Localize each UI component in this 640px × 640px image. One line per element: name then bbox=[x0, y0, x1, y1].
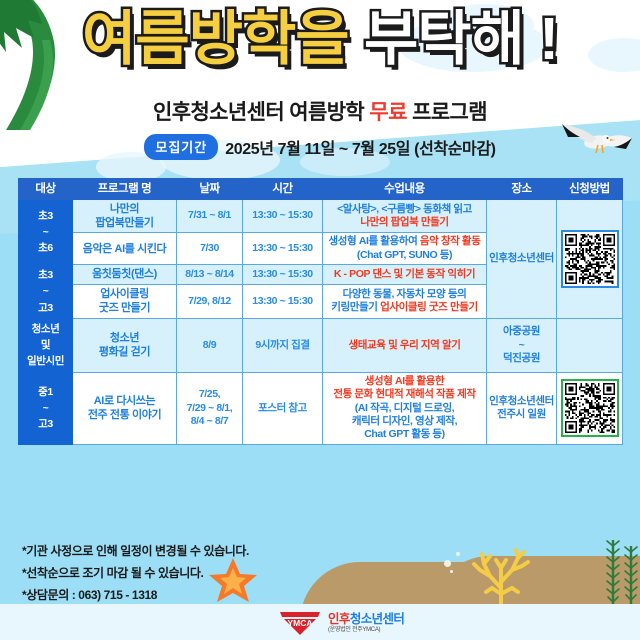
content-line-highlight: K - POP 댄스 및 기본 동작 익히기 bbox=[334, 268, 475, 280]
cell-program: 청소년평화길 걷기 bbox=[73, 318, 177, 372]
qr-code-green[interactable] bbox=[561, 379, 619, 437]
subtitle: 인후청소년센터 여름방학 무료 프로그램 bbox=[0, 96, 640, 126]
headline-exclamation: ! bbox=[539, 6, 558, 72]
subtitle-before: 인후청소년센터 여름방학 bbox=[153, 101, 364, 124]
logo-inhu: 인후 bbox=[328, 612, 350, 626]
cell-program: 음악은 AI를 시킨다 bbox=[73, 233, 177, 265]
content-line: (AI 작곡, 디지털 드로잉, bbox=[355, 402, 454, 414]
content-line: Chat GPT 활동 등) bbox=[364, 428, 445, 440]
cell-target: 초3~고3 bbox=[19, 265, 73, 319]
page-title: 여름방학을 부탁해 ! bbox=[0, 8, 640, 72]
content-highlight: 업사이클링 굿즈 만들기 bbox=[380, 301, 478, 313]
subtitle-after: 프로그램 bbox=[412, 101, 487, 124]
cell-time: 13:30 ~ 15:30 bbox=[243, 284, 323, 318]
cell-date: 8/13 ~ 8/14 bbox=[177, 265, 243, 285]
cell-place: 아중공원~덕진공원 bbox=[487, 318, 557, 372]
cell-apply-empty bbox=[557, 318, 623, 372]
cell-target: 초3~초6 bbox=[19, 200, 73, 265]
logo-center: 청소년센터 bbox=[350, 612, 405, 626]
cell-date: 7/30 bbox=[177, 233, 243, 265]
col-date: 날짜 bbox=[177, 179, 243, 200]
cell-date: 7/25,7/29 ~ 8/1,8/4 ~ 8/7 bbox=[177, 372, 243, 444]
cell-target: 청소년및일반시민 bbox=[19, 318, 73, 372]
bubble-icon bbox=[456, 552, 460, 556]
period-text: 2025년 7월 11일 ~ 7월 25일 (선착순마감) bbox=[225, 141, 495, 158]
bubble-icon bbox=[444, 560, 451, 567]
cell-content: 생성형 AI를 활용한 전통 문화 현대적 재해석 작품 제작 (AI 작곡, … bbox=[323, 372, 487, 444]
ymca-text: YMCA bbox=[287, 618, 312, 628]
cell-program: 움칫둠칫(댄스) bbox=[73, 265, 177, 285]
program-table-wrap: 대상 프로그램 명 날짜 시간 수업내용 장소 신청방법 초3~초6 나만의팝업… bbox=[18, 178, 622, 445]
content-line: 생성형 AI를 활용하여 음악 창작 활동 bbox=[329, 235, 481, 247]
col-program: 프로그램 명 bbox=[73, 179, 177, 200]
cell-program: 나만의팝업북만들기 bbox=[73, 200, 177, 233]
content-line-highlight: 생성형 AI를 활용한 bbox=[365, 375, 445, 387]
cell-content: <알사탕>, <구름빵> 동화책 읽고 나만의 팝업북 만들기 bbox=[323, 200, 487, 233]
cell-content: K - POP 댄스 및 기본 동작 익히기 bbox=[323, 265, 487, 285]
cell-time: 포스터 참고 bbox=[243, 372, 323, 444]
col-place: 장소 bbox=[487, 179, 557, 200]
table-row: 청소년및일반시민 청소년평화길 걷기 8/9 9시까지 집결 생태교육 및 우리… bbox=[19, 318, 623, 372]
cell-apply-qr[interactable] bbox=[557, 200, 623, 319]
content-highlight: 음악 창작 활동 bbox=[420, 235, 481, 247]
content-line: <알사탕>, <구름빵> 동화책 읽고 bbox=[337, 203, 472, 215]
table-row: 초3~초6 나만의팝업북만들기 7/31 ~ 8/1 13:30 ~ 15:30… bbox=[19, 200, 623, 233]
logo-sub-line: (운영법인 전주YMCA) bbox=[328, 627, 404, 633]
content-line: 캐릭터 디자인, 영상 제작, bbox=[352, 415, 457, 427]
qr-code-blue[interactable] bbox=[561, 230, 619, 288]
logo-main-line: 인후청소년센터 bbox=[328, 613, 404, 626]
logo-text-block: 인후청소년센터 (운영법인 전주YMCA) bbox=[328, 613, 404, 634]
headline-part1: 여름방학을 bbox=[82, 6, 348, 72]
col-content: 수업내용 bbox=[323, 179, 487, 200]
cell-content: 생태교육 및 우리 지역 알기 bbox=[323, 318, 487, 372]
content-line: 키링만들기 업사이클링 굿즈 만들기 bbox=[331, 301, 477, 313]
cell-program: AI로 다시쓰는전주 전통 이야기 bbox=[73, 372, 177, 444]
content-line-highlight: 생태교육 및 우리 지역 알기 bbox=[349, 339, 461, 351]
cell-date: 7/29, 8/12 bbox=[177, 284, 243, 318]
starfish-icon bbox=[208, 556, 258, 604]
content-line: 다양한 동물, 자동차 모양 등의 bbox=[343, 288, 467, 300]
cell-place: 인후청소년센터 bbox=[487, 200, 557, 319]
col-target: 대상 bbox=[19, 179, 73, 200]
cell-content: 생성형 AI를 활용하여 음악 창작 활동 (Chat GPT, SUNO 등) bbox=[323, 233, 487, 265]
poster-canvas: 여름방학을 부탁해 ! 인후청소년센터 여름방학 무료 프로그램 모집기간202… bbox=[0, 0, 640, 640]
cell-target: 중1~고3 bbox=[19, 372, 73, 444]
content-line: (Chat GPT, SUNO 등) bbox=[357, 249, 452, 261]
subtitle-free-badge: 무료 bbox=[369, 101, 406, 124]
cell-content: 다양한 동물, 자동차 모양 등의 키링만들기 업사이클링 굿즈 만들기 bbox=[323, 284, 487, 318]
cell-apply-qr[interactable] bbox=[557, 372, 623, 444]
col-time: 시간 bbox=[243, 179, 323, 200]
bubble-icon bbox=[450, 570, 453, 573]
cell-place: 인후청소년센터전주시 일원 bbox=[487, 372, 557, 444]
cell-time: 13:30 ~ 15:30 bbox=[243, 200, 323, 233]
cell-date: 8/9 bbox=[177, 318, 243, 372]
recruitment-period: 모집기간2025년 7월 11일 ~ 7월 25일 (선착순마감) bbox=[0, 134, 640, 160]
cell-program: 업사이클링굿즈 만들기 bbox=[73, 284, 177, 318]
organization-logo: YMCA 인후청소년센터 (운영법인 전주YMCA) bbox=[278, 608, 448, 638]
seaweed-icon bbox=[604, 538, 622, 614]
cell-time: 13:30 ~ 15:30 bbox=[243, 265, 323, 285]
cell-date: 7/31 ~ 8/1 bbox=[177, 200, 243, 233]
col-apply: 신청방법 bbox=[557, 179, 623, 200]
ymca-logo-icon: YMCA bbox=[278, 610, 322, 636]
content-line-highlight: 전통 문화 현대적 재해석 작품 제작 bbox=[333, 388, 475, 400]
table-header-row: 대상 프로그램 명 날짜 시간 수업내용 장소 신청방법 bbox=[19, 179, 623, 200]
headline-part2: 부탁해 bbox=[364, 6, 524, 72]
period-badge: 모집기간 bbox=[144, 134, 218, 160]
cell-time: 13:30 ~ 15:30 bbox=[243, 233, 323, 265]
coral-icon bbox=[470, 548, 532, 610]
table-row: 중1~고3 AI로 다시쓰는전주 전통 이야기 7/25,7/29 ~ 8/1,… bbox=[19, 372, 623, 444]
program-table: 대상 프로그램 명 날짜 시간 수업내용 장소 신청방법 초3~초6 나만의팝업… bbox=[18, 178, 623, 445]
cell-time: 9시까지 집결 bbox=[243, 318, 323, 372]
content-line-highlight: 나만의 팝업북 만들기 bbox=[360, 216, 448, 228]
